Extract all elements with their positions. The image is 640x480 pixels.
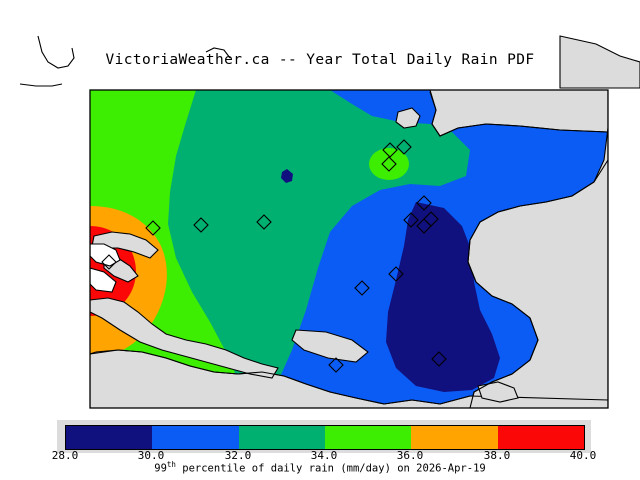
colorbar-caption: 99th percentile of daily rain (mm/day) o… [0, 460, 640, 475]
colorbar-band-36-38[interactable] [411, 426, 497, 449]
outside-coastline-fragments [20, 36, 230, 86]
outside-land-patch [560, 36, 640, 88]
colorbar-band-30-32[interactable] [152, 426, 238, 449]
colorbar-band-38-40[interactable] [498, 426, 584, 449]
contour-map [0, 0, 640, 480]
colorbar-caption-ordinal: th [167, 460, 176, 469]
colorbar[interactable] [65, 425, 585, 450]
colorbar-caption-post: percentile of daily rain (mm/day) on 202… [176, 463, 486, 475]
plot-interior [90, 90, 608, 408]
colorbar-band-28-30[interactable] [66, 426, 152, 449]
weather-map-page: VictoriaWeather.ca -- Year Total Daily R… [0, 0, 640, 480]
colorbar-band-34-36[interactable] [325, 426, 411, 449]
colorbar-caption-pre: 99 [154, 463, 167, 475]
colorbar-band-32-34[interactable] [239, 426, 325, 449]
